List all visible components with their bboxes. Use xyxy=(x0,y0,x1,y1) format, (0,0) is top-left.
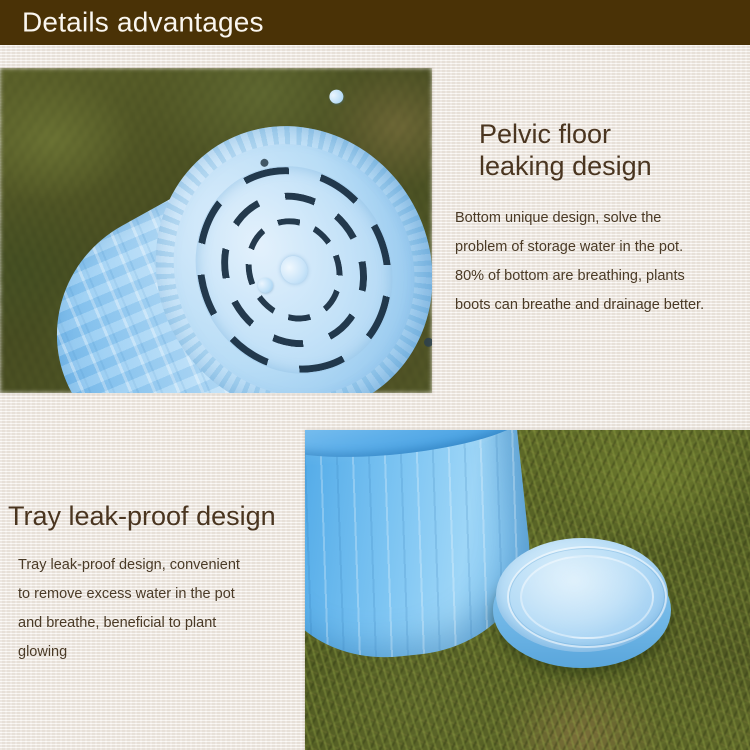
tray-body: Tray leak-proof design, convenient to re… xyxy=(18,551,304,667)
body-line: Tray leak-proof design, convenient xyxy=(18,551,304,580)
pot-bottom-drainage-photo xyxy=(0,68,432,393)
pelvic-floor-text-block: Pelvic floor leaking design Bottom uniqu… xyxy=(455,118,750,320)
body-line: glowing xyxy=(18,638,304,667)
tray-top-surface xyxy=(496,538,668,652)
section-header-bar: Details advantages xyxy=(0,0,750,45)
pot-with-tray-photo xyxy=(305,430,750,750)
pelvic-floor-body: Bottom unique design, solve the problem … xyxy=(455,204,750,320)
body-line: to remove excess water in the pot xyxy=(18,580,304,609)
molded-bump xyxy=(327,87,346,106)
tray-illustration xyxy=(493,538,671,680)
body-line: boots can breathe and drainage better. xyxy=(455,291,750,320)
pelvic-floor-heading: Pelvic floor leaking design xyxy=(479,118,750,182)
body-line: problem of storage water in the pot. xyxy=(455,233,750,262)
body-line: Bottom unique design, solve the xyxy=(455,204,750,233)
page-title: Details advantages xyxy=(22,6,264,38)
tray-heading: Tray leak-proof design xyxy=(8,500,304,532)
tray-text-block: Tray leak-proof design Tray leak-proof d… xyxy=(8,500,304,667)
page-background: Details advantages Pelvi xyxy=(0,0,750,750)
small-drain-hole xyxy=(422,336,432,348)
body-line: and breathe, beneficial to plant xyxy=(18,609,304,638)
tray-inner-groove xyxy=(520,555,654,639)
body-line: 80% of bottom are breathing, plants xyxy=(455,262,750,291)
